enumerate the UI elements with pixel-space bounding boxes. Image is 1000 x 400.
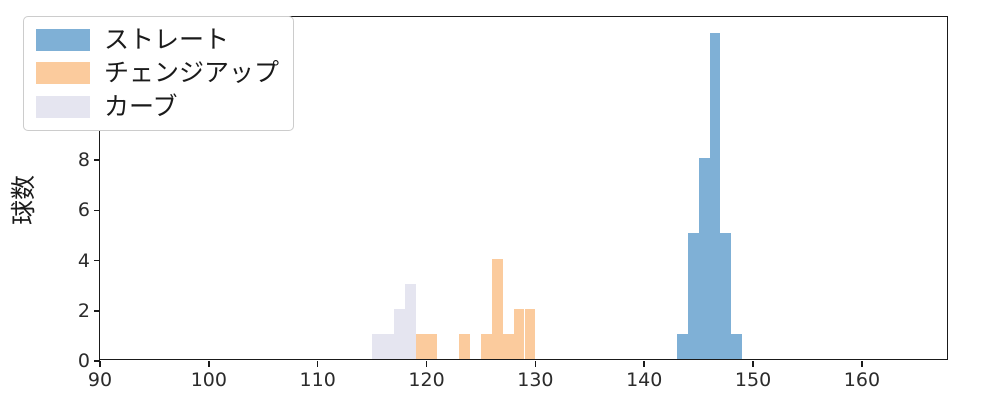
histogram-bar-curve [405,284,416,359]
histogram-bar-changeup [514,309,525,359]
legend-swatch [36,29,90,51]
y-tick-label: 4 [78,250,90,272]
legend-item: チェンジアップ [36,60,279,86]
legend-item: カーブ [36,94,279,120]
x-tick-mark [99,361,101,367]
histogram-bar-curve [383,334,394,359]
y-tick-label: 0 [78,350,90,372]
histogram-bar-curve [394,309,405,359]
histogram-bar-changeup [481,334,492,359]
legend-item: ストレート [36,27,279,53]
histogram-figure: 球数 90100110120130140150160024681012 ストレー… [0,0,1000,400]
x-tick-mark [643,361,645,367]
y-tick-label: 2 [78,300,90,322]
x-tick-label: 130 [517,369,553,391]
histogram-bar-changeup [492,259,503,359]
histogram-bar-changeup [416,334,427,359]
x-tick-label: 140 [626,369,662,391]
x-tick-label: 110 [300,369,336,391]
y-tick-mark [94,360,100,362]
histogram-bar-straight [720,233,731,359]
histogram-bar-curve [372,334,383,359]
legend-label: ストレート [104,27,229,53]
x-tick-label: 100 [191,369,227,391]
y-tick-label: 6 [78,199,90,221]
histogram-bar-straight [677,334,688,359]
legend-label: チェンジアップ [104,60,279,86]
x-tick-label: 160 [844,369,880,391]
histogram-bar-straight [688,233,699,359]
legend: ストレートチェンジアップカーブ [23,16,294,131]
histogram-bar-changeup [427,334,438,359]
y-axis-title: 球数 [4,175,40,225]
y-tick-mark [94,310,100,312]
legend-label: カーブ [104,94,178,120]
y-tick-mark [94,210,100,212]
x-tick-mark [535,361,537,367]
legend-swatch [36,62,90,84]
histogram-bar-changeup [525,309,536,359]
x-tick-mark [861,361,863,367]
x-tick-label: 150 [735,369,771,391]
histogram-bar-changeup [459,334,470,359]
histogram-bar-straight [710,33,721,359]
y-tick-mark [94,159,100,161]
histogram-bar-straight [699,158,710,359]
y-tick-label: 8 [78,149,90,171]
x-tick-mark [208,361,210,367]
x-tick-mark [752,361,754,367]
x-tick-label: 90 [88,369,112,391]
x-tick-label: 120 [408,369,444,391]
legend-swatch [36,96,90,118]
histogram-bar-changeup [503,334,514,359]
y-tick-mark [94,260,100,262]
x-tick-mark [317,361,319,367]
histogram-bar-straight [731,334,742,359]
x-tick-mark [426,361,428,367]
